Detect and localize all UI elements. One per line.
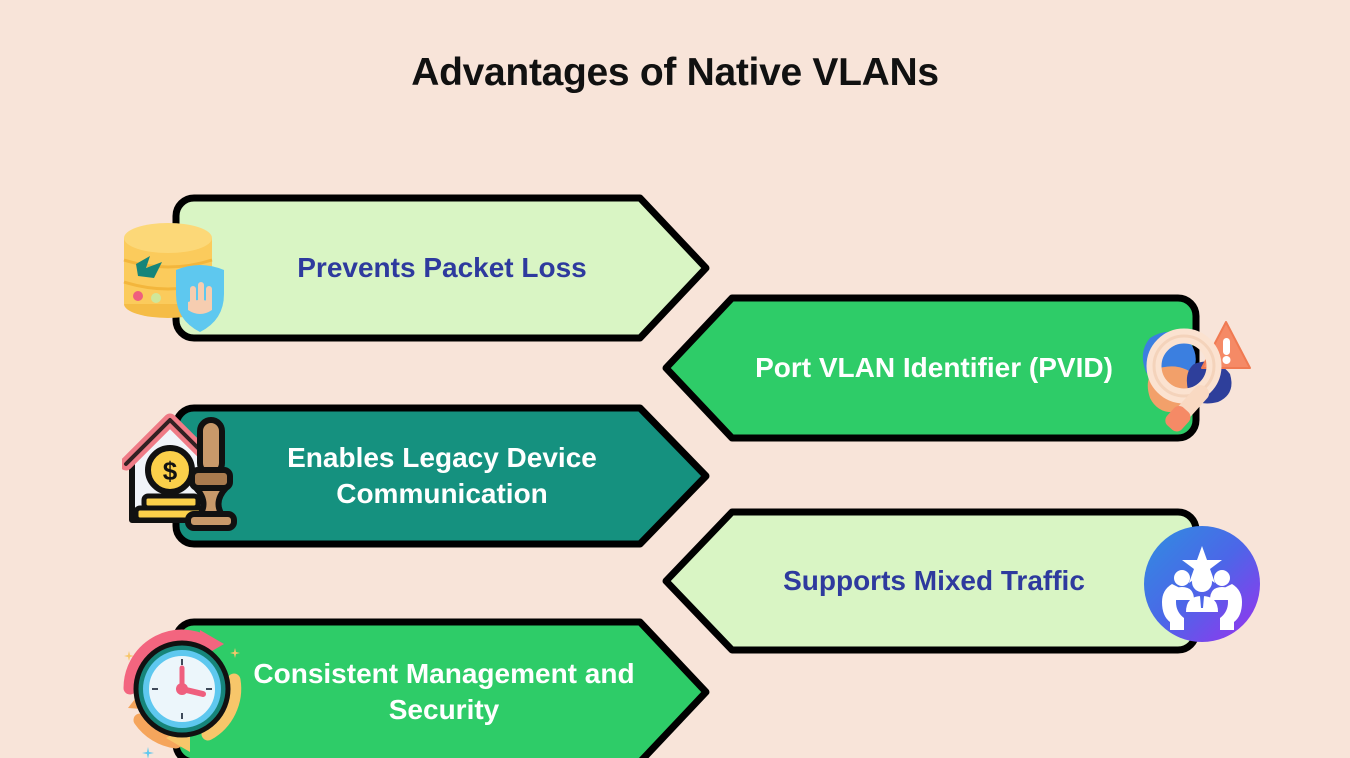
infographic-canvas: Advantages of Native VLANs Prevents Pack… [0,0,1350,758]
banner-port-vlan-identifier[interactable]: Port VLAN Identifier (PVID) [662,294,1200,442]
clock-refresh-icon [104,616,260,758]
banner-enables-legacy-device-communication[interactable]: Enables Legacy Device Communication [172,404,712,548]
arrow-shape-right [172,404,712,548]
page-title: Advantages of Native VLANs [0,50,1350,97]
magnifier-warning-icon [1140,312,1252,444]
database-shield-icon [116,208,236,336]
banner-prevents-packet-loss[interactable]: Prevents Packet Loss [172,194,712,342]
arrow-shape-right [172,194,712,342]
arrow-shape-left [662,294,1200,442]
house-coins-stamp-icon: $ [122,404,248,540]
banner-supports-mixed-traffic[interactable]: Supports Mixed Traffic [662,508,1200,654]
teamwork-hands-icon [1142,524,1262,644]
svg-text:$: $ [163,456,178,486]
arrow-shape-left [662,508,1200,654]
